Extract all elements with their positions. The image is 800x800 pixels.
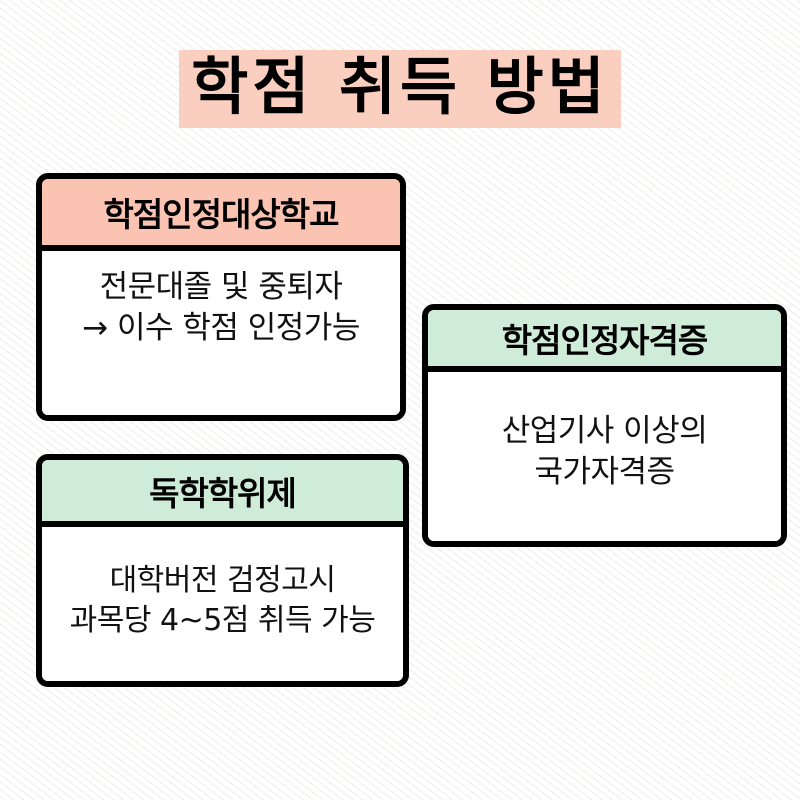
page-title-text: 학점 취득 방법 [179,50,620,128]
card-accredited-certificates-line-1: 산업기사 이상의 [502,411,708,452]
card-self-study-degree-line-2: 과목당 4~5점 취득 가능 [70,601,376,641]
card-accredited-certificates-line-2: 국가자격증 [534,452,674,493]
card-accredited-schools-line-2: → 이수 학점 인정가능 [82,308,360,349]
card-accredited-certificates-header: 학점인정자격증 [428,310,781,372]
card-accredited-certificates[interactable]: 학점인정자격증 산업기사 이상의 국가자격증 [422,304,787,547]
card-accredited-schools-header: 학점인정대상학교 [42,179,400,251]
card-accredited-schools[interactable]: 학점인정대상학교 전문대졸 및 중퇴자 → 이수 학점 인정가능 [36,173,406,421]
card-self-study-degree-body: 대학버전 검정고시 과목당 4~5점 취득 가능 [42,527,403,681]
card-self-study-degree[interactable]: 독학학위제 대학버전 검정고시 과목당 4~5점 취득 가능 [36,454,409,687]
card-self-study-degree-header: 독학학위제 [42,460,403,527]
card-accredited-schools-line-1: 전문대졸 및 중퇴자 [100,267,343,308]
page-title: 학점 취득 방법 [0,50,800,128]
card-self-study-degree-line-1: 대학버전 검정고시 [110,561,336,601]
card-accredited-schools-body: 전문대졸 및 중퇴자 → 이수 학점 인정가능 [42,251,400,415]
card-accredited-certificates-body: 산업기사 이상의 국가자격증 [428,372,781,541]
infographic-canvas: 학점 취득 방법 학점인정대상학교 전문대졸 및 중퇴자 → 이수 학점 인정가… [0,0,800,800]
